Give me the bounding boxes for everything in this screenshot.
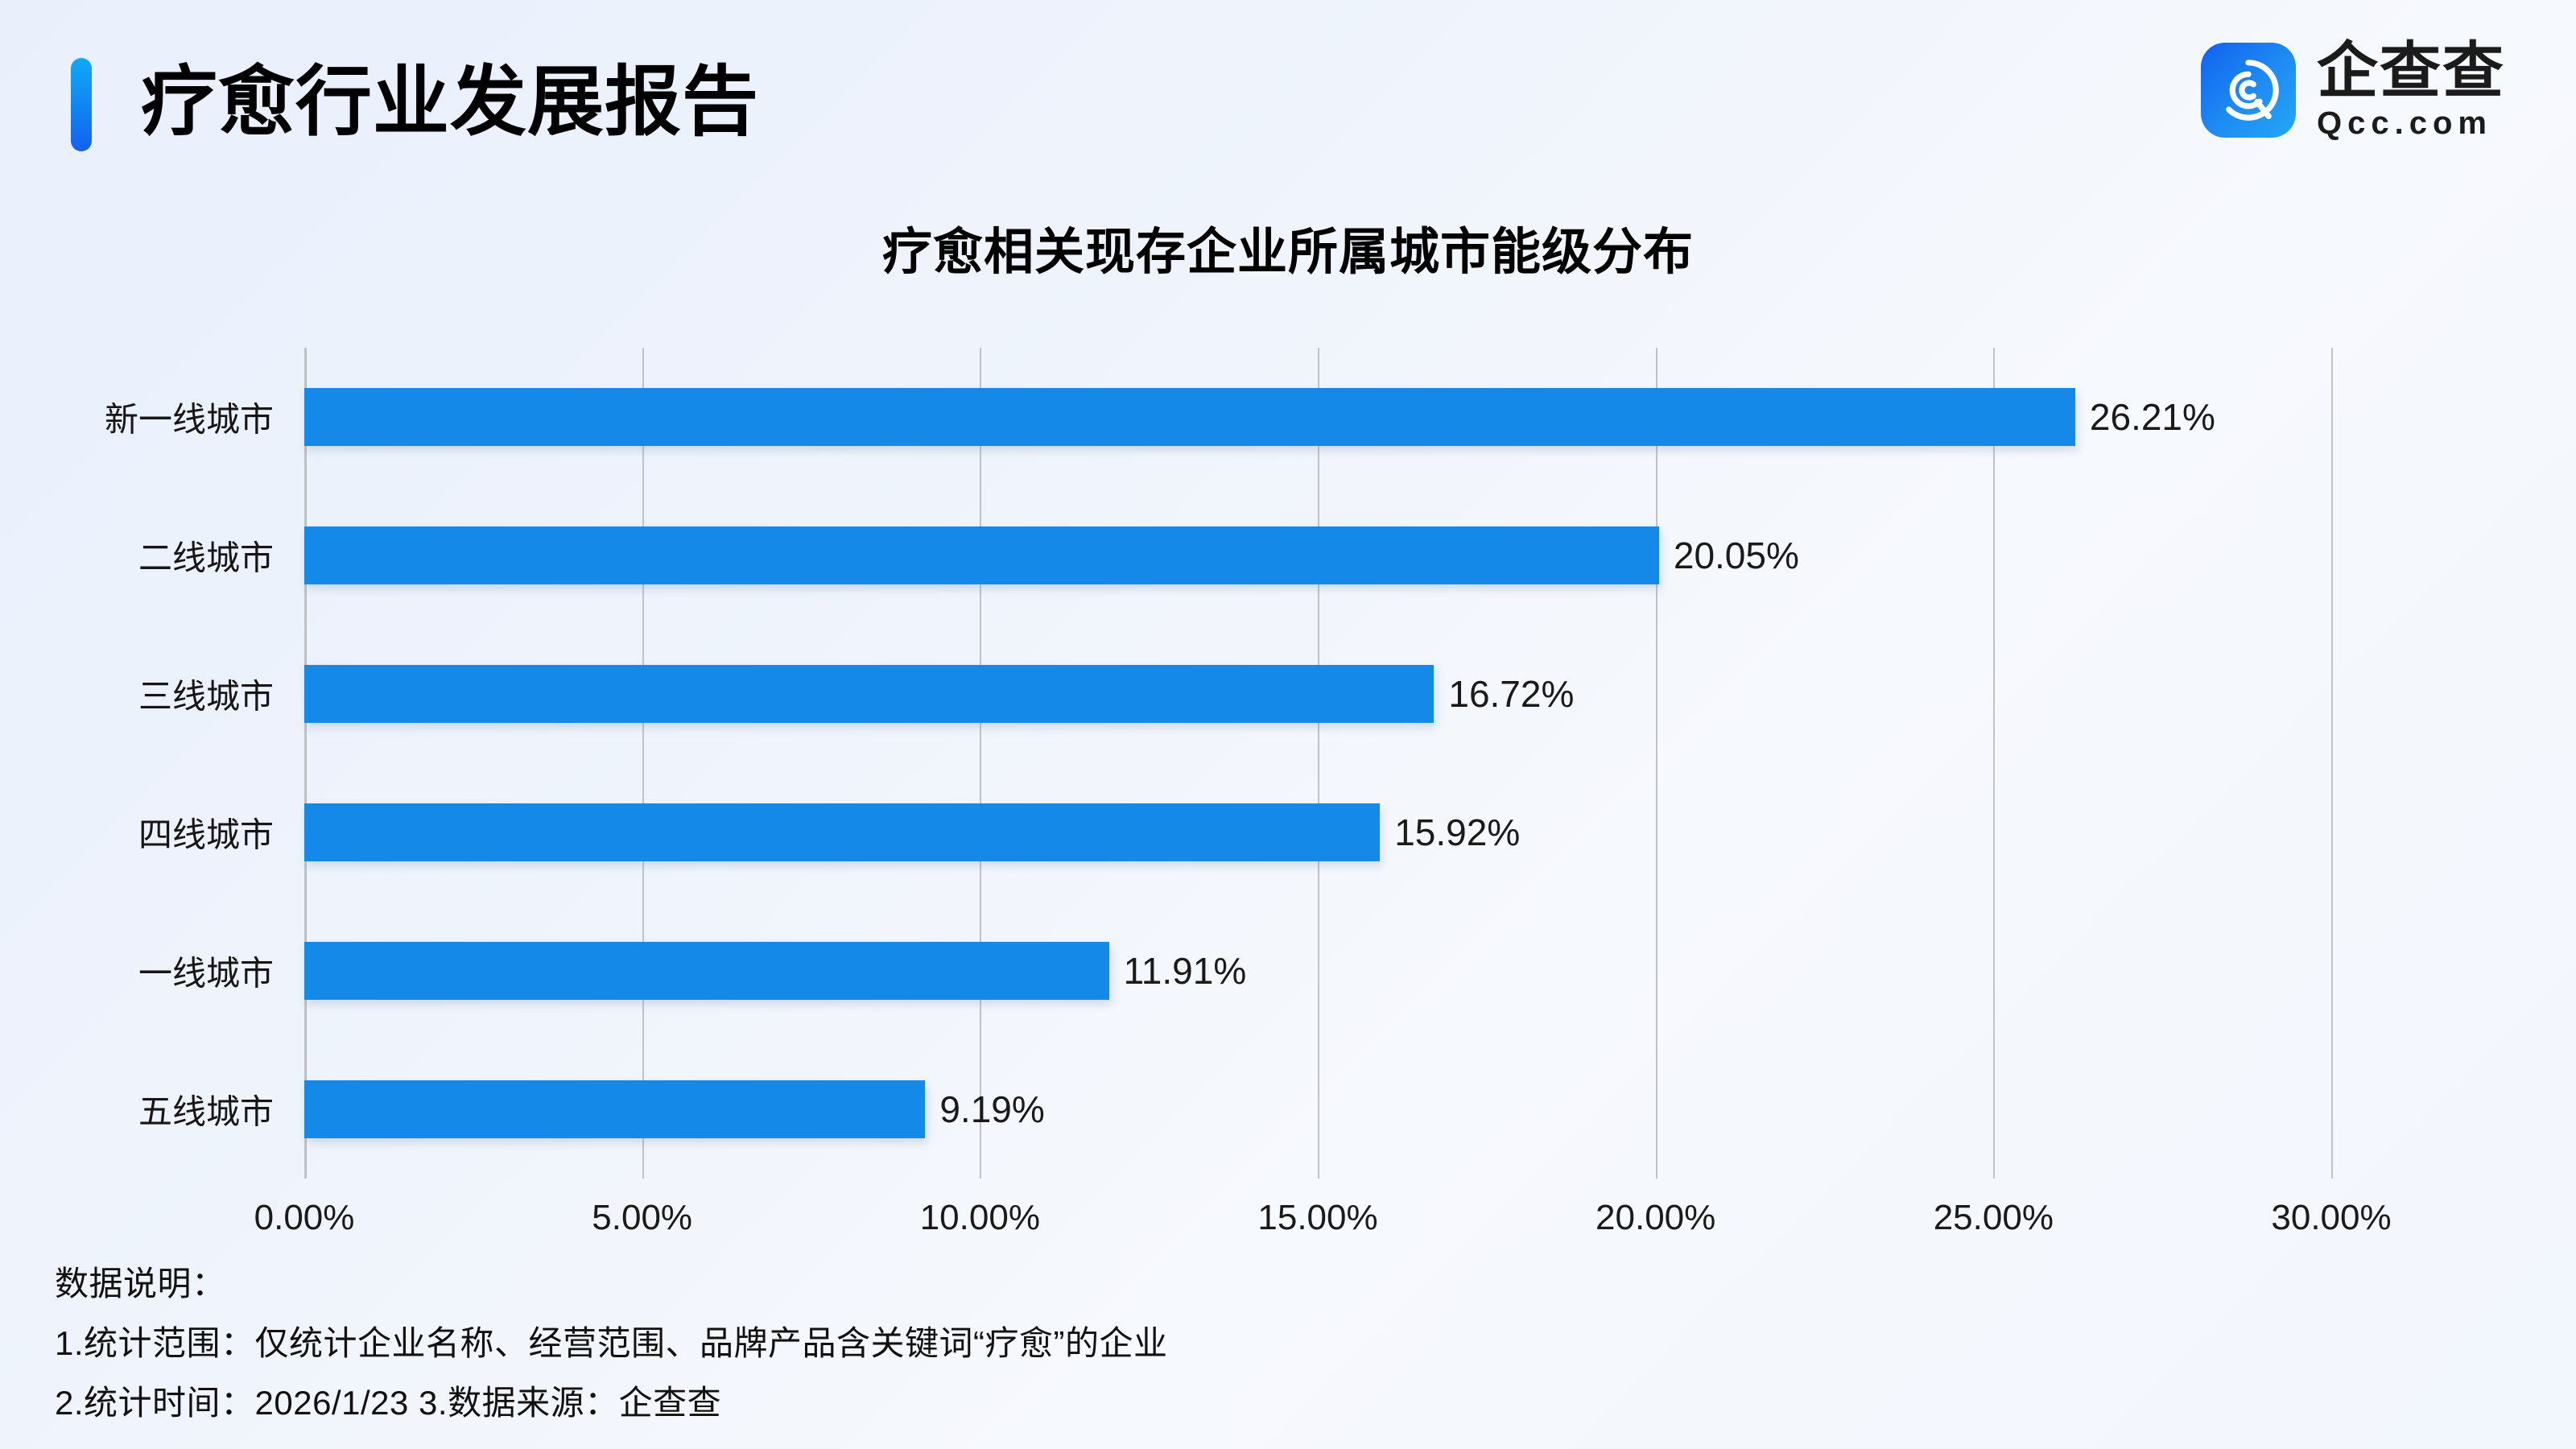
- bar-row[interactable]: 9.19%: [304, 1080, 2331, 1138]
- bar[interactable]: [304, 1080, 925, 1138]
- bar-value-label: 20.05%: [1674, 534, 1799, 577]
- bar[interactable]: [304, 665, 1434, 723]
- gridline: [2331, 348, 2333, 1179]
- brand-name-en: Qcc.com: [2317, 105, 2505, 142]
- bar[interactable]: [304, 388, 2075, 446]
- y-axis-category-label: 一线城市: [0, 947, 274, 996]
- y-axis-category-label: 新一线城市: [0, 393, 274, 442]
- bar-value-label: 15.92%: [1394, 811, 1520, 854]
- report-title: 疗愈行业发展报告: [141, 50, 759, 155]
- x-axis-tick-label: 0.00%: [254, 1198, 355, 1238]
- bar[interactable]: [304, 803, 1380, 861]
- notes-heading: 数据说明：: [55, 1254, 1987, 1314]
- bar-row[interactable]: 11.91%: [304, 942, 2331, 1000]
- plot-area: 26.21%20.05%16.72%15.92%11.91%9.19%: [304, 348, 2331, 1179]
- title-accent-bar: [71, 58, 92, 151]
- gridline: [642, 348, 644, 1179]
- notes-line-1: 1.统计范围：仅统计企业名称、经营范围、品牌产品含关键词“疗愈”的企业: [55, 1314, 1987, 1373]
- brand-text: 企查查 Qcc.com: [2317, 39, 2505, 142]
- data-notes: 数据说明： 1.统计范围：仅统计企业名称、经营范围、品牌产品含关键词“疗愈”的企…: [55, 1254, 1987, 1433]
- bar-chart: 26.21%20.05%16.72%15.92%11.91%9.19% 新一线城…: [0, 338, 2576, 1191]
- chart-title: 疗愈相关现存企业所属城市能级分布: [0, 211, 2576, 283]
- x-axis-tick-label: 25.00%: [1934, 1198, 2054, 1238]
- y-axis-category-label: 二线城市: [0, 531, 274, 580]
- brand-logo: 企查查 Qcc.com: [2201, 39, 2505, 142]
- bar-row[interactable]: 15.92%: [304, 803, 2331, 861]
- x-axis-tick-label: 15.00%: [1257, 1198, 1377, 1238]
- y-axis-category-label: 五线城市: [0, 1085, 274, 1134]
- x-axis-tick-label: 20.00%: [1596, 1198, 1715, 1238]
- gridline: [304, 348, 306, 1179]
- gridline: [1318, 348, 1319, 1179]
- bar-row[interactable]: 16.72%: [304, 665, 2331, 723]
- bar-row[interactable]: 20.05%: [304, 526, 2331, 584]
- bar-value-label: 16.72%: [1448, 672, 1574, 716]
- bar-row[interactable]: 26.21%: [304, 388, 2331, 446]
- x-axis-tick-label: 10.00%: [920, 1198, 1040, 1238]
- bar-value-label: 9.19%: [939, 1088, 1044, 1131]
- gridline: [980, 348, 981, 1179]
- bar-value-label: 11.91%: [1124, 949, 1247, 993]
- qcc-spiral-q-logo-icon: [2201, 43, 2296, 138]
- brand-name-cn: 企查查: [2317, 39, 2505, 105]
- y-axis-category-label: 三线城市: [0, 670, 274, 719]
- x-axis-tick-label: 30.00%: [2271, 1198, 2391, 1238]
- gridline: [1993, 348, 1995, 1179]
- notes-line-2: 2.统计时间：2026/1/23 3.数据来源：企查查: [55, 1373, 1987, 1433]
- bar[interactable]: [304, 942, 1109, 1000]
- y-axis-category-label: 四线城市: [0, 808, 274, 857]
- x-axis-tick-label: 5.00%: [592, 1198, 692, 1238]
- page-header: 疗愈行业发展报告 企查查 Qcc.com: [0, 0, 2576, 201]
- gridline: [1656, 348, 1657, 1179]
- bar[interactable]: [304, 526, 1659, 584]
- bar-value-label: 26.21%: [2090, 395, 2215, 439]
